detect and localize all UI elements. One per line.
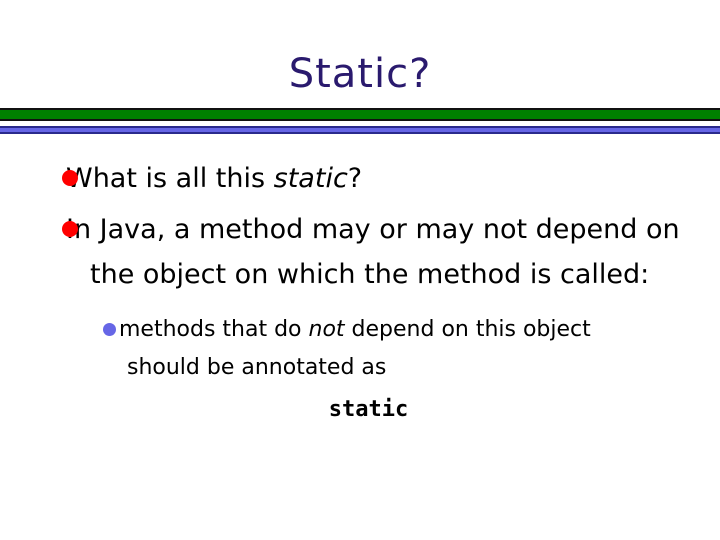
title-divider: [0, 108, 720, 134]
bullet-text-1: What is all this static?: [90, 156, 680, 201]
slide-body: What is all this static? In Java, a meth…: [0, 156, 720, 429]
bullet-text-1-tail: ?: [348, 163, 362, 194]
bullet-item-3: methods that do not depend on this objec…: [0, 311, 720, 387]
divider-rule-blue: [0, 126, 720, 134]
bullet-text-1-lead: What is all this: [66, 163, 274, 194]
bullet-text-1-emphasis: static: [274, 163, 348, 194]
bullet-item-1: What is all this static?: [0, 156, 720, 201]
bullet-marker-blue-icon: [103, 323, 116, 336]
bullet-marker-red-icon: [62, 221, 78, 237]
bullet-marker-red-icon: [62, 170, 78, 186]
code-keyword-static: static: [0, 391, 720, 429]
bullet-text-2: In Java, a method may or may not depend …: [90, 207, 680, 297]
divider-rule-green: [0, 108, 720, 121]
bullet-text-3-lead: methods that do: [119, 317, 309, 342]
slide-title: Static?: [0, 50, 720, 98]
bullet-text-3: methods that do not depend on this objec…: [127, 311, 610, 387]
slide: Static? What is all this static? In Java…: [0, 0, 720, 540]
bullet-text-3-emphasis: not: [309, 317, 345, 342]
bullet-item-2: In Java, a method may or may not depend …: [0, 207, 720, 297]
